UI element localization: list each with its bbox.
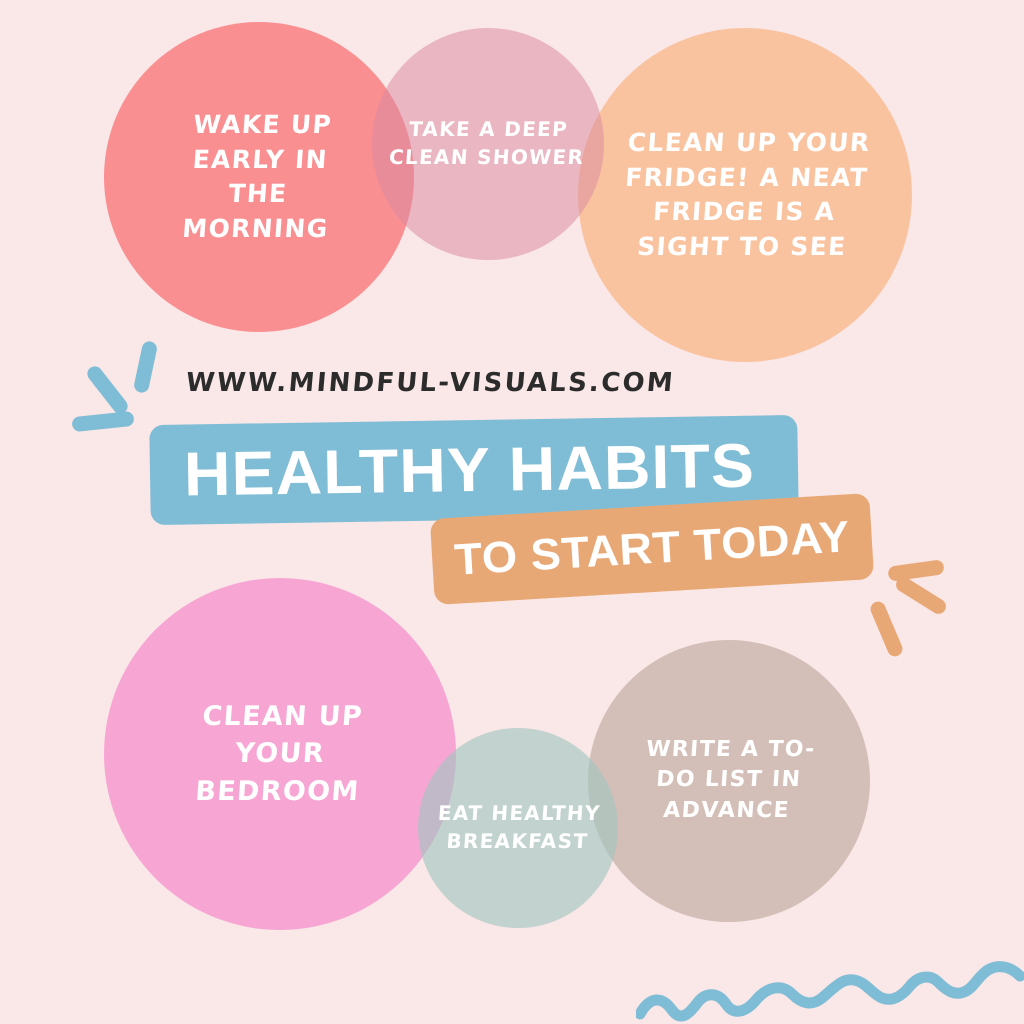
habit-text-wake-up-early: WAKE UP EARLY IN THE MORNING [181, 108, 337, 246]
habit-circle-clean-bedroom: CLEAN UP YOUR BEDROOM [104, 578, 456, 930]
sparkle-burst-icon-blue-stroke-3 [71, 411, 134, 432]
website-url: WWW.MINDFUL-VISUALS.COM [185, 368, 676, 398]
habit-circle-healthy-breakfast: EAT HEALTHY BREAKFAST [418, 728, 618, 928]
sparkle-burst-icon-blue-stroke-2 [84, 363, 130, 416]
sparkle-burst-icon-orange-stroke-2 [893, 574, 948, 616]
page-subtitle: TO START TODAY [453, 512, 851, 585]
habit-text-deep-clean-shower: TAKE A DEEP CLEAN SHOWER [388, 116, 587, 171]
habit-circle-deep-clean-shower: TAKE A DEEP CLEAN SHOWER [372, 28, 604, 260]
habit-text-to-do-list: WRITE A TO- DO LIST IN ADVANCE [641, 735, 817, 826]
habit-circle-to-do-list: WRITE A TO- DO LIST IN ADVANCE [588, 640, 870, 922]
sparkle-burst-icon-blue-stroke-1 [133, 340, 158, 394]
habit-text-clean-bedroom: CLEAN UP YOUR BEDROOM [194, 698, 366, 810]
healthy-habits-poster: WAKE UP EARLY IN THE MORNING CLEAN UP YO… [0, 0, 1024, 1024]
page-title: HEALTHY HABITS [138, 430, 756, 511]
sparkle-burst-icon-orange-stroke-3 [868, 599, 904, 658]
habit-text-clean-fridge: CLEAN UP YOUR FRIDGE! A NEAT FRIDGE IS A… [619, 126, 871, 264]
habit-circle-clean-fridge: CLEAN UP YOUR FRIDGE! A NEAT FRIDGE IS A… [578, 28, 912, 362]
sparkle-burst-icon-orange-stroke-1 [887, 559, 945, 582]
wavy-line-icon [636, 952, 1024, 1022]
habit-circle-wake-up-early: WAKE UP EARLY IN THE MORNING [104, 22, 414, 332]
habit-text-healthy-breakfast: EAT HEALTHY BREAKFAST [435, 800, 602, 855]
